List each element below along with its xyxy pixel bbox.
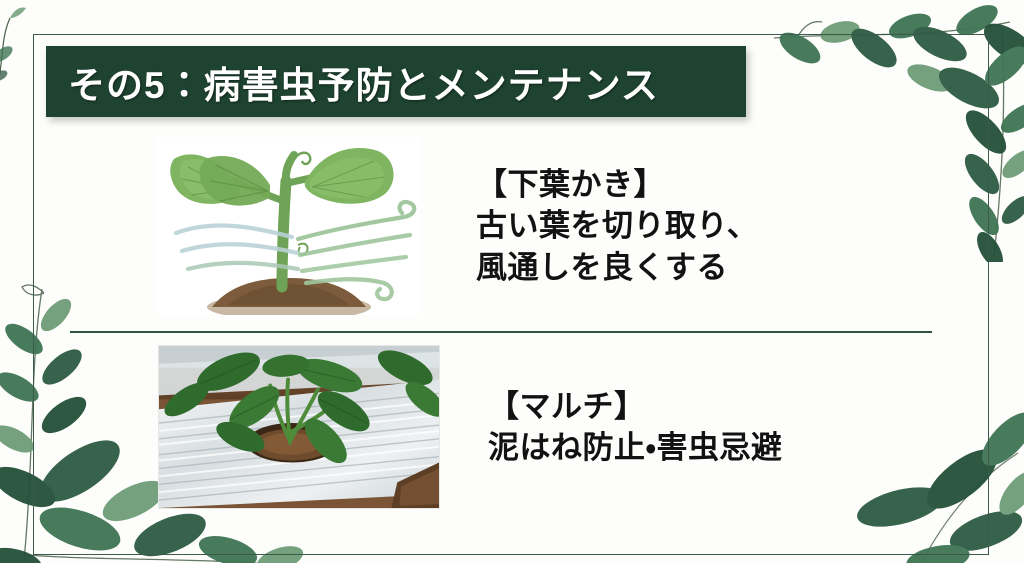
plant-airflow-illustration-graphic [158,137,420,315]
caption-shitaba-kaki: 【下葉かき】 古い葉を切り取り、 風通しを良くする [476,164,758,288]
caption-mulch: 【マルチ】 泥はね防止・害虫忌避 [488,386,783,468]
slide-canvas: その5：病害虫予防とメンテナンス [0,0,1024,563]
section-divider [70,331,932,333]
mulch-film-photo [158,345,440,509]
page-title: その5：病害虫予防とメンテナンス [46,55,659,109]
plant-airflow-illustration [158,137,420,315]
mulch-film-photo-graphic [159,346,439,508]
title-banner: その5：病害虫予防とメンテナンス [46,46,746,117]
content-row-2: 【マルチ】 泥はね防止・害虫忌避 [158,345,918,509]
content-row-1: 【下葉かき】 古い葉を切り取り、 風通しを良くする [158,136,918,316]
